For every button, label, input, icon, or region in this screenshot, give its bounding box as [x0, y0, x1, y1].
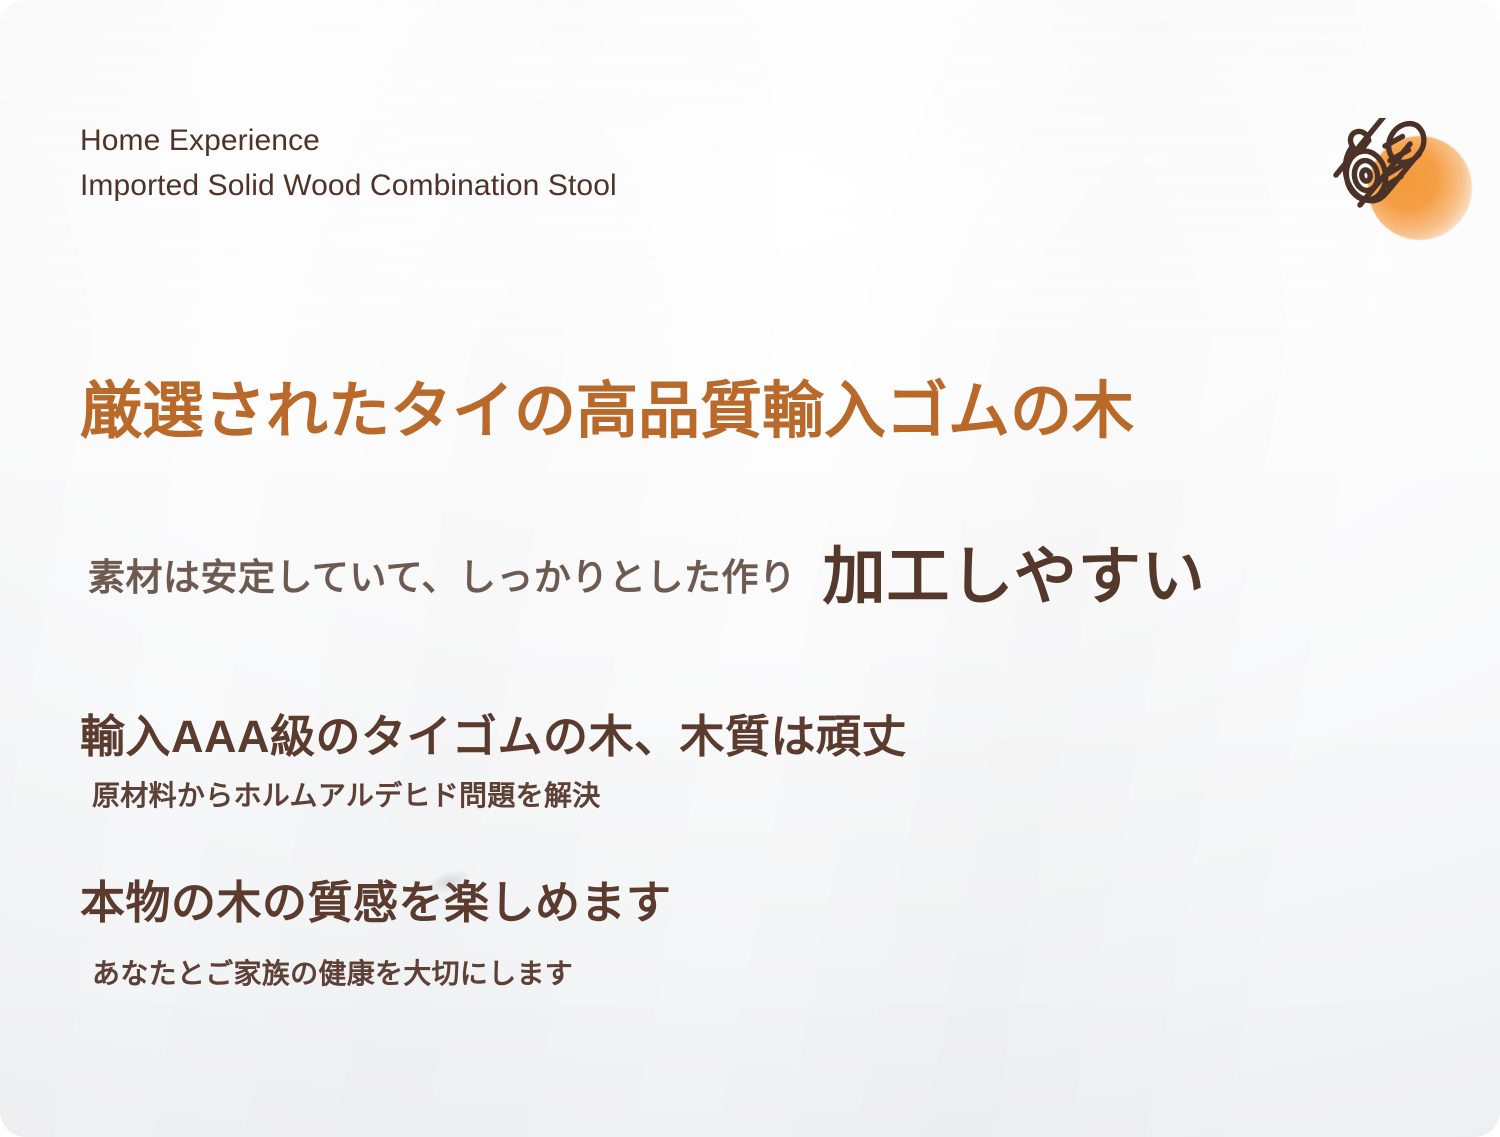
subheadline-small: 素材は安定していて、しっかりとした作り: [88, 552, 796, 604]
feature-subtitle: 原材料からホルムアルデヒド問題を解決: [80, 776, 1280, 816]
feature-title: 輸入AAA級のタイゴムの木、木質は頑丈: [80, 708, 1280, 766]
header-line-1: Home Experience: [80, 118, 1080, 163]
wood-log-icon: [1322, 118, 1452, 223]
subheadline-row: 素材は安定していて、しっかりとした作り 加工しやすい: [88, 534, 1206, 604]
header-block: Home Experience Imported Solid Wood Comb…: [80, 118, 1080, 208]
header-line-2: Imported Solid Wood Combination Stool: [80, 163, 1080, 208]
feature-list: 輸入AAA級のタイゴムの木、木質は頑丈 原材料からホルムアルデヒド問題を解決 本…: [80, 708, 1280, 994]
feature-block: 本物の木の質感を楽しめます あなたとご家族の健康を大切にします: [80, 874, 1280, 994]
subheadline-large: 加工しやすい: [822, 542, 1205, 612]
feature-block: 輸入AAA級のタイゴムの木、木質は頑丈 原材料からホルムアルデヒド問題を解決: [80, 708, 1280, 816]
feature-subtitle: あなたとご家族の健康を大切にします: [80, 954, 1280, 994]
wood-log-badge: [1322, 118, 1452, 223]
product-detail-card: Home Experience Imported Solid Wood Comb…: [0, 0, 1500, 1137]
page-headline: 厳選されたタイの高品質輸入ゴムの木: [80, 376, 1134, 448]
feature-title: 本物の木の質感を楽しめます: [80, 874, 1280, 932]
